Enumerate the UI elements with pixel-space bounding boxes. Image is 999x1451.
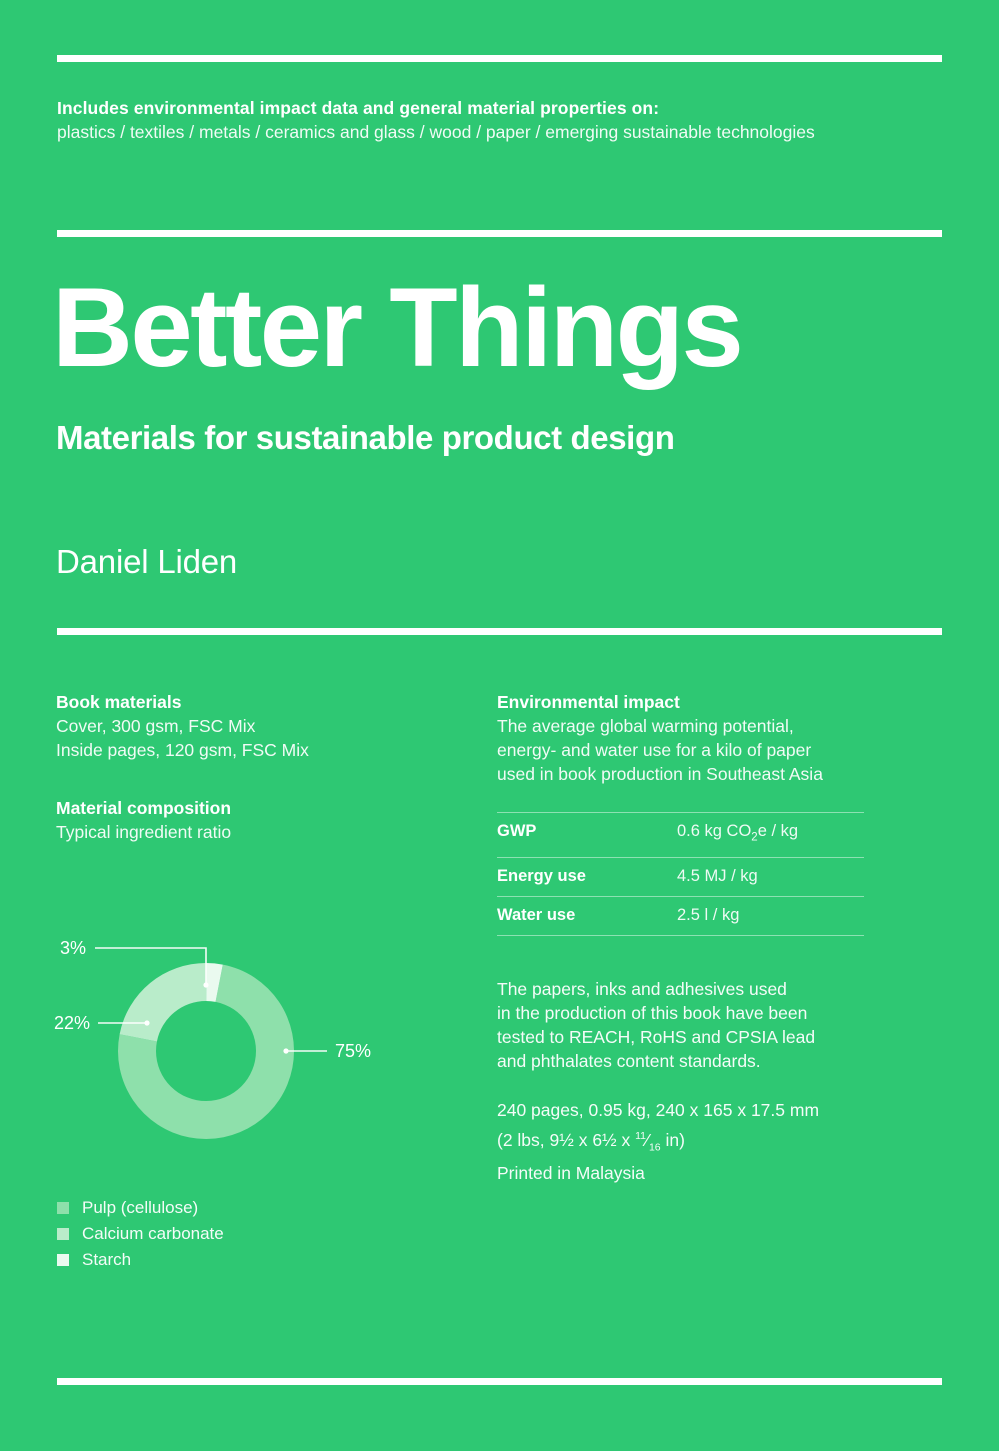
specs-line-2-pre: (2 lbs, 9½ x 6½ x [497,1130,635,1150]
leader-dot-starch [203,982,208,987]
legend-swatch-pulp [57,1202,69,1214]
impact-label: Water use [497,897,677,936]
material-composition-donut-chart: 3% 22% 75% [50,925,380,1175]
page-subtitle: Materials for sustainable product design [56,418,674,458]
environmental-impact-table: GWP 0.6 kg CO2e / kg Energy use 4.5 MJ /… [497,812,864,936]
table-row: GWP 0.6 kg CO2e / kg [497,813,864,858]
fraction-numerator: 11 [635,1130,646,1142]
fraction-denominator: 16 [649,1141,661,1153]
rule-bottom [57,1378,942,1385]
page-title: Better Things [52,272,741,384]
impact-value-post: e / kg [758,822,798,840]
legend-swatch-starch [57,1254,69,1266]
leader-dot-pulp [283,1048,288,1053]
specs-line-2-post: in) [661,1130,685,1150]
book-materials-line-2: Inside pages, 120 gsm, FSC Mix [56,738,476,762]
leader-dot-calcium [144,1020,149,1025]
spacer [56,762,476,796]
compliance-note-line-4: and phthalates content standards. [497,1049,892,1073]
environmental-impact-heading: Environmental impact [497,690,897,714]
environmental-impact-body-1: The average global warming potential, [497,714,897,738]
legend-swatch-calcium-carbonate [57,1228,69,1240]
specs-line-1: 240 pages, 0.95 kg, 240 x 165 x 17.5 mm [497,1097,897,1123]
material-composition-heading: Material composition [56,796,476,820]
book-materials-heading: Book materials [56,690,476,714]
legend-label-calcium-carbonate: Calcium carbonate [82,1223,224,1245]
compliance-note-line-1: The papers, inks and adhesives used [497,977,892,1001]
left-column: Book materials Cover, 300 gsm, FSC Mix I… [56,690,476,844]
impact-value-pre: 0.6 kg CO [677,822,751,840]
impact-value-pre: 2.5 l / kg [677,906,739,924]
compliance-note-line-2: in the production of this book have been [497,1001,892,1025]
specs-line-2: (2 lbs, 9½ x 6½ x 11⁄16 in) [497,1123,897,1160]
environmental-impact-body-3: used in book production in Southeast Asi… [497,762,897,786]
author-name: Daniel Liden [56,542,237,582]
intro-line-1: Includes environmental impact data and g… [57,96,947,120]
impact-label: Energy use [497,858,677,897]
rule-middle [57,628,942,635]
chart-legend: Pulp (cellulose) Calcium carbonate Starc… [57,1195,357,1273]
impact-label: GWP [497,813,677,858]
legend-label-starch: Starch [82,1249,131,1271]
list-item: Starch [57,1247,357,1273]
book-cover-page: Includes environmental impact data and g… [0,0,999,1451]
impact-value: 0.6 kg CO2e / kg [677,813,864,858]
donut-slices [118,963,294,1139]
intro-block: Includes environmental impact data and g… [57,96,947,144]
donut-label-calcium: 22% [54,1013,90,1033]
donut-slice-calcium-carbonate [120,963,207,1041]
compliance-note: The papers, inks and adhesives used in t… [497,977,892,1073]
donut-label-starch: 3% [60,938,86,958]
table-row: Water use 2.5 l / kg [497,897,864,936]
material-composition-subheading: Typical ingredient ratio [56,820,476,844]
right-column: Environmental impact The average global … [497,690,897,786]
impact-value-pre: 4.5 MJ / kg [677,867,758,885]
list-item: Calcium carbonate [57,1221,357,1247]
legend-label-pulp: Pulp (cellulose) [82,1197,198,1219]
rule-title [57,230,942,237]
impact-value: 2.5 l / kg [677,897,864,936]
book-specs: 240 pages, 0.95 kg, 240 x 165 x 17.5 mm … [497,1097,897,1186]
table-row: Energy use 4.5 MJ / kg [497,858,864,897]
book-materials-line-1: Cover, 300 gsm, FSC Mix [56,714,476,738]
donut-label-pulp: 75% [335,1041,371,1061]
intro-line-2: plastics / textiles / metals / ceramics … [57,120,947,144]
environmental-impact-body-2: energy- and water use for a kilo of pape… [497,738,897,762]
impact-value: 4.5 MJ / kg [677,858,864,897]
rule-top [57,55,942,62]
specs-line-3: Printed in Malaysia [497,1160,897,1186]
compliance-note-line-3: tested to REACH, RoHS and CPSIA lead [497,1025,892,1049]
donut-chart-svg: 3% 22% 75% [50,925,380,1175]
list-item: Pulp (cellulose) [57,1195,357,1221]
